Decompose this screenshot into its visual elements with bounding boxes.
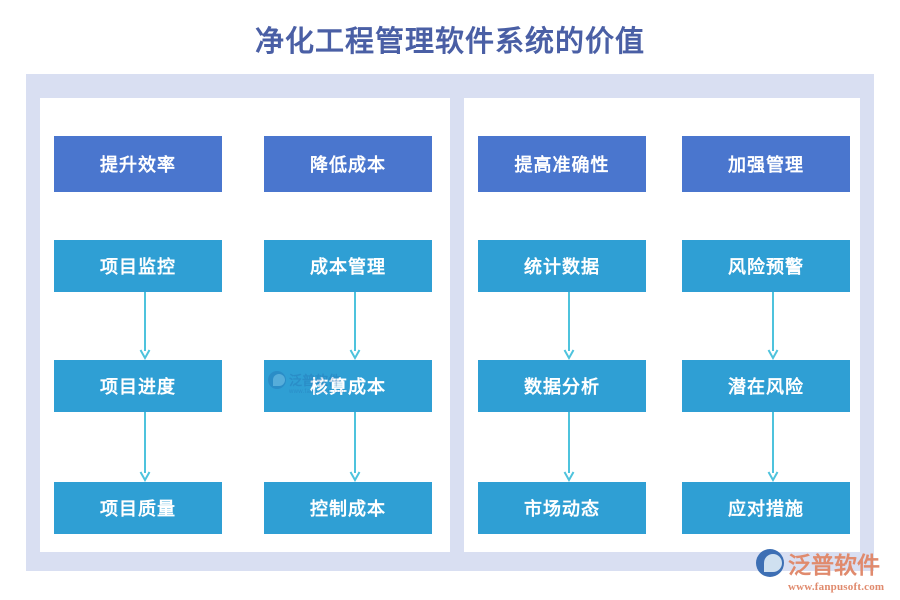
node-cost-header[interactable]: 降低成本 [264, 136, 432, 192]
node-cost-step-3[interactable]: 控制成本 [264, 482, 432, 534]
node-accuracy-step-1[interactable]: 统计数据 [478, 240, 646, 292]
node-accuracy-step-2[interactable]: 数据分析 [478, 360, 646, 412]
node-accuracy-header[interactable]: 提高准确性 [478, 136, 646, 192]
node-efficiency-step-1[interactable]: 项目监控 [54, 240, 222, 292]
node-cost-step-2[interactable]: 核算成本 [264, 360, 432, 412]
node-management-step-2[interactable]: 潜在风险 [682, 360, 850, 412]
node-accuracy-step-3[interactable]: 市场动态 [478, 482, 646, 534]
node-management-step-1[interactable]: 风险预警 [682, 240, 850, 292]
node-cost-step-1[interactable]: 成本管理 [264, 240, 432, 292]
brand-url: www.fanpusoft.com [788, 581, 892, 593]
node-efficiency-step-2[interactable]: 项目进度 [54, 360, 222, 412]
node-management-step-3[interactable]: 应对措施 [682, 482, 850, 534]
node-efficiency-header[interactable]: 提升效率 [54, 136, 222, 192]
node-efficiency-step-3[interactable]: 项目质量 [54, 482, 222, 534]
brand-swoosh-icon [756, 549, 784, 577]
brand-logo: 泛普软件 www.fanpusoft.com [756, 546, 892, 592]
page-title: 净化工程管理软件系统的价值 [0, 18, 900, 60]
node-management-header[interactable]: 加强管理 [682, 136, 850, 192]
brand-name: 泛普软件 [788, 546, 880, 580]
